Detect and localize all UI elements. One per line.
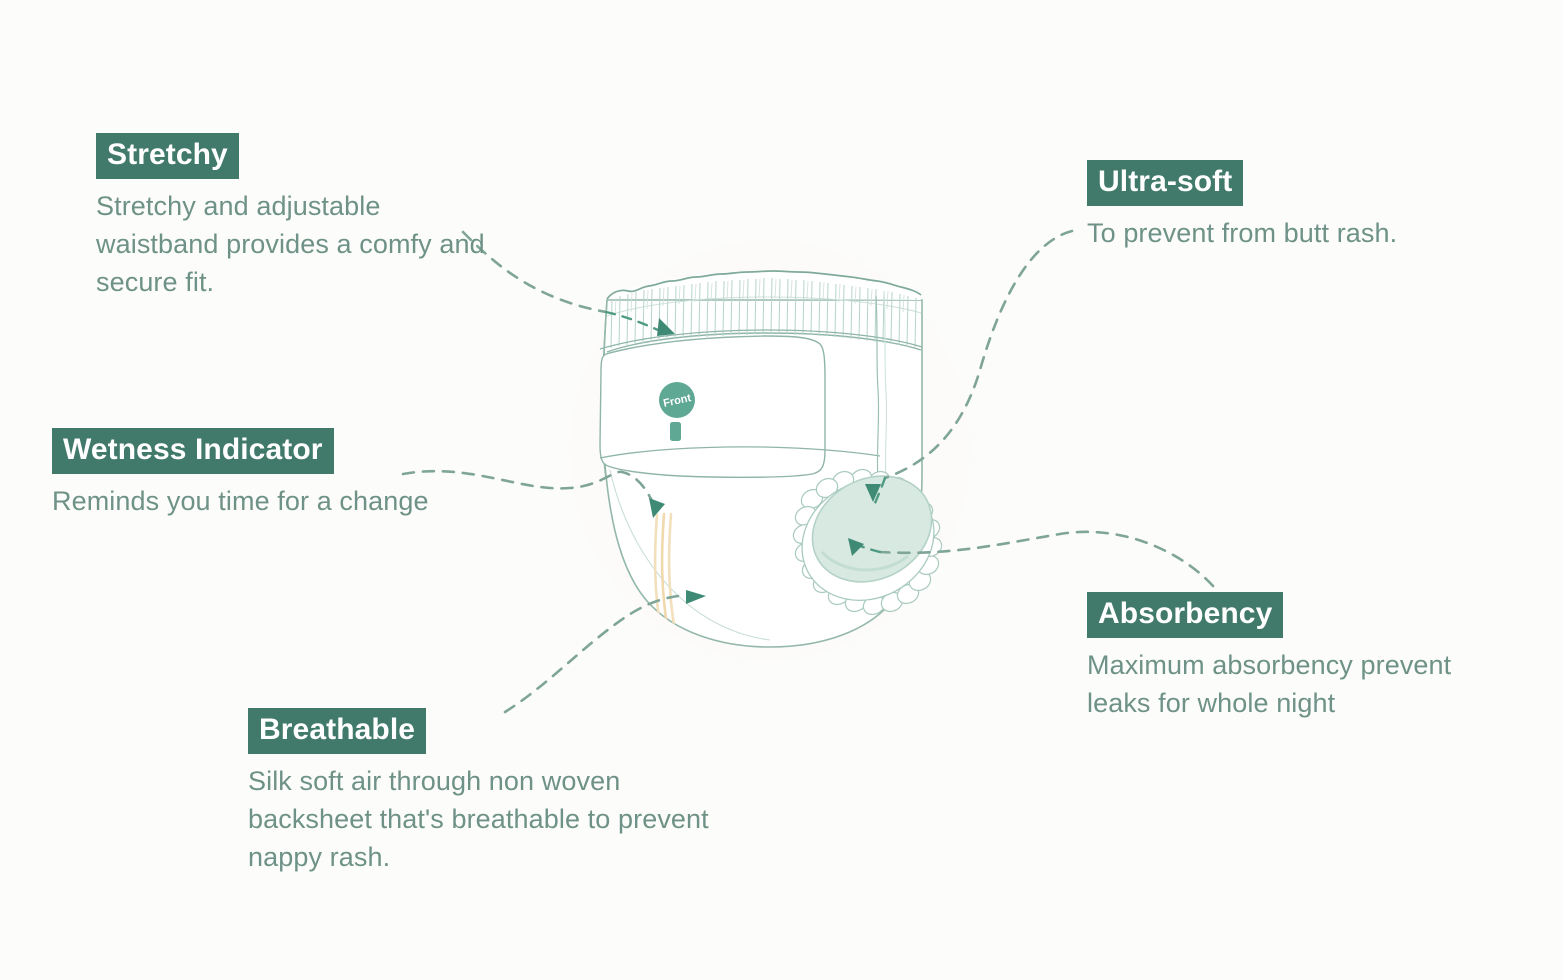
front-panel-top-edge: [600, 330, 922, 349]
callout-absorbency: Absorbency Maximum absorbency prevent le…: [1087, 592, 1487, 723]
front-badge-label: Front: [662, 392, 692, 410]
absorbent-core-shade: [822, 552, 908, 570]
pant-body: [602, 300, 922, 647]
leg-cuff-ruffle: [790, 466, 945, 618]
front-panel-bottom-seam: [600, 447, 880, 458]
absorbent-core: [794, 456, 950, 603]
waistband-bottom-rim: [607, 333, 921, 352]
connector-breathable: [505, 596, 678, 712]
badge-ultra-soft[interactable]: Ultra-soft: [1087, 160, 1243, 206]
callout-wetness-indicator: Wetness Indicator Reminds you time for a…: [52, 428, 452, 521]
badge-absorbency[interactable]: Absorbency: [1087, 592, 1283, 638]
wetness-indicator-stripes: [655, 514, 675, 632]
front-badge: Front: [659, 382, 695, 441]
infographic-canvas: Front: [0, 0, 1563, 980]
connector-absorbency: [880, 532, 1213, 586]
description-absorbency: Maximum absorbency prevent leaks for who…: [1087, 647, 1487, 723]
leg-cuff: [781, 456, 956, 623]
pant-left-edge: [602, 300, 607, 478]
connector-arrowheads: [649, 318, 881, 604]
badge-stretchy[interactable]: Stretchy: [96, 133, 239, 179]
badge-breathable[interactable]: Breathable: [248, 708, 426, 754]
connector-ultrasoft: [885, 231, 1072, 478]
callout-stretchy: Stretchy Stretchy and adjustable waistba…: [96, 133, 496, 301]
pant-outline: [603, 300, 922, 647]
arrow-wetness: [649, 498, 665, 518]
description-ultra-soft: To prevent from butt rash.: [1087, 215, 1517, 253]
description-breathable: Silk soft air through non woven backshee…: [248, 763, 748, 876]
arrow-ultrasoft: [865, 484, 881, 502]
arrow-absorbency: [848, 538, 864, 556]
crotch-seam: [610, 470, 770, 640]
side-seam-line-b: [884, 292, 887, 538]
side-seam: [876, 292, 887, 538]
front-badge-circle: [659, 382, 695, 418]
front-panel: [599, 330, 922, 477]
front-panel-rect: [600, 336, 825, 477]
leg-cuff-band: [781, 457, 956, 623]
waistband-ribbing: [611, 278, 916, 348]
connector-stretchy-inner: [606, 312, 658, 330]
description-stretchy: Stretchy and adjustable waistband provid…: [96, 188, 496, 301]
callout-ultra-soft: Ultra-soft To prevent from butt rash.: [1087, 160, 1517, 253]
connector-absorbency-inner: [860, 546, 880, 552]
waistband-fold-line: [607, 297, 921, 316]
arrow-breathable: [686, 590, 706, 604]
side-seam-line-a: [876, 296, 879, 536]
elastic-waistband: [607, 271, 921, 352]
description-wetness-indicator: Reminds you time for a change: [52, 483, 452, 521]
front-badge-tab: [670, 422, 681, 441]
badge-wetness-indicator[interactable]: Wetness Indicator: [52, 428, 334, 474]
waistband-top-rim: [607, 271, 921, 299]
product-backdrop: [570, 240, 970, 660]
callout-breathable: Breathable Silk soft air through non wov…: [248, 708, 748, 876]
arrow-stretchy: [657, 318, 675, 336]
connector-ultrasoft-inner: [874, 478, 885, 506]
